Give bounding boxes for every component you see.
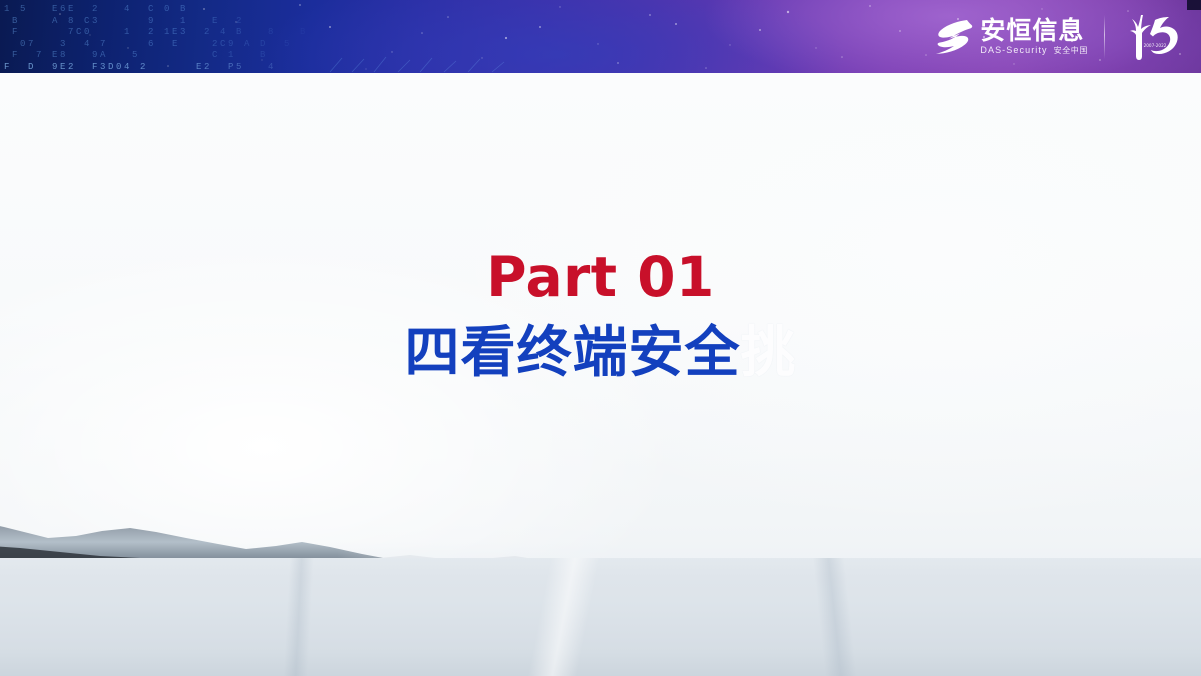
section-heading-text: 四看终端安全 — [404, 320, 740, 384]
15th-anniversary-emblem-icon: 2007-2022 — [1121, 11, 1183, 63]
company-tagline: DAS-Security 安全中国 — [980, 45, 1088, 56]
part-label: Part 01 — [0, 246, 1201, 308]
company-name-cn: 安恒信息 — [980, 18, 1088, 44]
das-security-swoosh-logo-icon — [935, 17, 973, 57]
company-tagline-cn: 安全中国 — [1054, 46, 1088, 56]
company-name-en: DAS-Security — [980, 45, 1047, 55]
title-block: Part 01 四看终端安全挑 — [0, 246, 1201, 383]
frozen-lake-surface — [0, 558, 1201, 676]
presentation-slide: 1 5 E6E 2 4 C 0 B B A 8 C3 9 1 E 2 F 7C0… — [0, 0, 1201, 676]
brand-header-banner: 1 5 E6E 2 4 C 0 B B A 8 C3 9 1 E 2 F 7C0… — [0, 0, 1201, 73]
logo-divider — [1104, 15, 1105, 59]
company-wordmark: 安恒信息 DAS-Security 安全中国 — [980, 18, 1088, 56]
company-logo: 安恒信息 DAS-Security 安全中国 — [935, 17, 1088, 57]
section-heading-trailing-char: 挑 — [741, 320, 797, 384]
logo-lockup: 安恒信息 DAS-Security 安全中国 2007-2022 — [935, 9, 1183, 65]
header-corner-notch — [1187, 0, 1201, 10]
section-heading: 四看终端安全挑 — [0, 321, 1201, 383]
anniversary-years: 2007-2022 — [1144, 43, 1167, 48]
